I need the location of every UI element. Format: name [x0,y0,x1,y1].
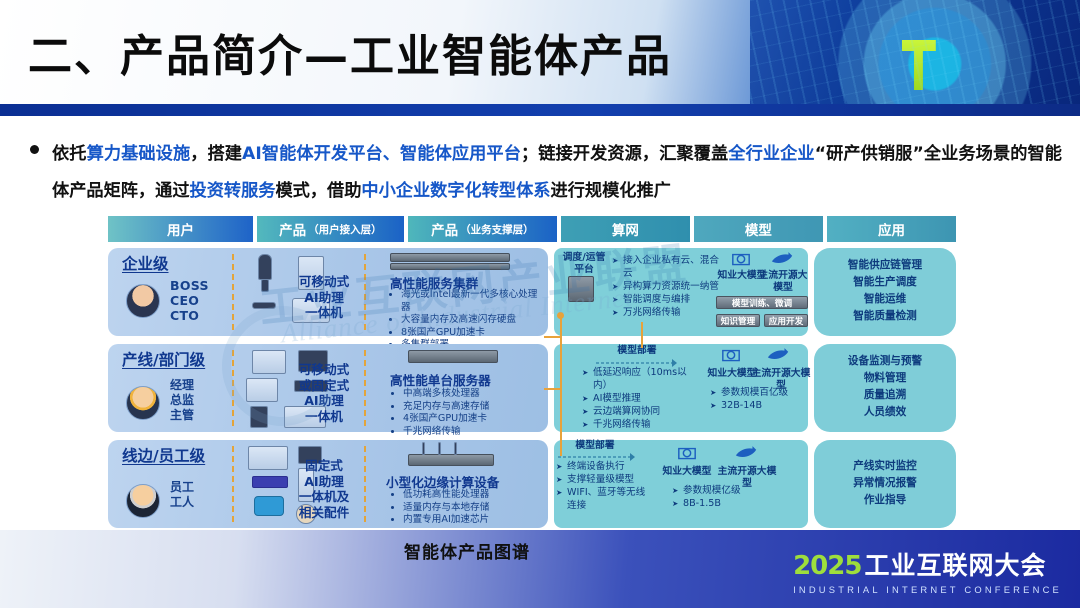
connector-stub-1 [544,336,562,338]
role-list: 员工 工人 [170,480,194,510]
bullet-segment-8: 模式，借助 [275,181,361,201]
divider-dashed-2 [364,350,366,426]
column-header-product-support-label: 产品 [431,219,458,239]
model-item: 参数规模亿级 [672,484,776,497]
product-map-diagram: 工业互联网产业联盟 Alliance of Industrial Interne… [108,216,956,528]
bullet-paragraph: 依托算力基础设施，搭建AI智能体开发平台、智能体应用平台；链接开发资源，汇聚覆盖… [52,136,1062,210]
role-list: BOSS CEO CTO [170,278,209,323]
conference-logo: 2025 工业互联网大会 INDUSTRIAL INTERNET CONFERE… [793,546,1062,595]
app-item-list: 产线实时监控异常情况报警作业指导 [814,458,956,509]
app-item: 人员绩效 [814,404,956,421]
column-header-product-access: 产品 （用户接入层） [257,216,404,242]
knowledge-model-icon [720,346,742,366]
support-item: 千兆网络传输 [403,426,544,439]
bullet-segment-7: 投资转服务 [190,181,276,201]
robot-legs-icon [261,279,269,292]
server-cluster-icon [390,253,510,262]
row-mid-panel: 模型部署 低延迟响应（10ms以内）AI模型推理云边端算网协同千兆网络传输 知业… [554,344,808,432]
support-item: 海光或Intel最新一代多核心处理器 [401,289,540,314]
column-header-product-access-sub: （用户接入层） [308,222,382,237]
antenna-icon-2 [438,442,441,455]
model-chip-appdev: 应用开发 [764,314,808,327]
support-title: 高性能单台服务器 [390,370,491,389]
row-left-panel: 线边/员工级 员工 工人 固定式 AI助理 一体机及 相关配件 小型化边缘计算设… [108,440,548,528]
bullet-segment-2: ，搭建 [190,144,242,164]
row-left-panel: 产线/部门级 经理 总监 主管 可移动式 或固定式 AI助理 一体机 高性能单台… [108,344,548,432]
diagram-row-line-edge: 线边/员工级 员工 工人 固定式 AI助理 一体机及 相关配件 小型化边缘计算设… [108,440,956,528]
support-item-list: 海光或Intel最新一代多核心处理器大容量内存及高速闪存硬盘8张国产GPU加速卡… [390,289,540,352]
net-item: 终端设备执行 [556,460,652,473]
app-item: 物料管理 [814,370,956,387]
bullet-segment-9: 中小企业数字化转型体系 [361,181,550,201]
net-item: 接入企业私有云、混合云 [612,254,724,280]
column-header-product-support: 产品 （业务支撑层） [408,216,557,242]
model-chip-training: 模型训练、微调 [716,296,808,309]
model-name-2: 主流开源大模型 [754,270,812,294]
hmi-screen-icon [248,446,288,470]
app-item-list: 智能供应链管理智能生产调度智能运维智能质量检测 [814,257,956,325]
app-item: 质量追溯 [814,387,956,404]
bullet-segment-1: 算力基础设施 [87,144,191,164]
conference-name-cn: 工业互联网大会 [864,546,1046,582]
net-item: 智能调度与编排 [612,293,724,306]
edge-gateway-icon [408,454,494,466]
net-item: 异构算力资源统一纳管 [612,280,724,293]
app-item: 作业指导 [814,492,956,509]
monitor-icon [252,350,286,374]
level-title: 线边/员工级 [122,448,230,465]
connector-node [557,312,564,319]
bullet-block: 依托算力基础设施，搭建AI智能体开发平台、智能体应用平台；链接开发资源，汇聚覆盖… [22,136,1062,210]
support-item: 大容量内存及高速闪存硬盘 [401,314,540,327]
column-header-product-access-label: 产品 [279,219,306,239]
conference-name-en: INDUSTRIAL INTERNET CONFERENCE [793,584,1062,595]
divider-dashed-1 [232,254,234,330]
support-item-list: 低功耗高性能处理器适量内存与本地存储内置专用AI加速芯片 [392,489,544,527]
model-name-1: 知业大模型 [658,466,716,478]
net-item-list: 终端设备执行支撑轻量级模型WIFI、蓝牙等无线连接 [556,460,652,512]
server-cluster-icon-2 [390,263,510,270]
banner-divider [0,104,1080,116]
row-mid-panel: 调度/运管平台 接入企业私有云、混合云异构算力资源统一纳管智能调度与编排万兆网络… [554,248,808,336]
net-item: 云边端算网协同 [582,405,698,418]
net-item: 支撑轻量级模型 [556,473,652,486]
row-app-panel: 产线实时监控异常情况报警作业指导 [814,440,956,528]
avatar [126,386,160,420]
column-header-application-label: 应用 [878,219,905,239]
single-server-icon [408,350,498,363]
app-item: 设备监测与预警 [814,353,956,370]
row-app-panel: 设备监测与预警物料管理质量追溯人员绩效 [814,344,956,432]
open-source-model-icon [734,444,756,464]
app-item-list: 设备监测与预警物料管理质量追溯人员绩效 [814,353,956,421]
app-item: 智能供应链管理 [814,257,956,274]
support-item: 内置专用AI加速芯片 [403,514,544,527]
bullet-segment-4: ；链接开发资源，汇聚覆盖 [521,144,728,164]
page-title: 二、产品简介—工业智能体产品 [28,20,672,84]
product-access-label: 固定式 AI助理 一体机及 相关配件 [286,458,362,520]
model-item: 32B-14B [710,399,814,412]
app-item: 异常情况报警 [814,475,956,492]
diagram-row-enterprise: 企业级 BOSS CEO CTO 可移动式 AI助理 一体机 高性能服务集群 海… [108,248,956,336]
net-item: 千兆网络传输 [582,418,698,431]
net-caption: 调度/运管平台 [558,252,610,276]
model-item-list: 参数规模百亿级32B-14B [710,386,814,412]
row-left-panel: 企业级 BOSS CEO CTO 可移动式 AI助理 一体机 高性能服务集群 海… [108,248,548,336]
knowledge-model-icon [730,250,752,270]
platform-icon [568,276,594,302]
support-item: 8张国产GPU加速卡 [401,327,540,340]
slide-banner: 二、产品简介—工业智能体产品 [0,0,1080,112]
divider-dashed-2 [364,254,366,330]
net-item-list: 接入企业私有云、混合云异构算力资源统一纳管智能调度与编排万兆网络传输 [612,254,724,319]
column-header-application: 应用 [827,216,956,242]
net-item: 低延迟响应（10ms以内） [582,366,698,392]
column-header-bar: 用户 产品 （用户接入层） 产品 （业务支撑层） 算网 模型 应用 [108,216,956,242]
divider-dashed-1 [232,350,234,426]
knowledge-model-icon [676,444,698,464]
diagram-row-production-line: 产线/部门级 经理 总监 主管 可移动式 或固定式 AI助理 一体机 高性能单台… [108,344,956,432]
connector-vertical-2 [641,322,643,348]
antenna-icon-3 [454,442,457,455]
product-access-label: 可移动式 AI助理 一体机 [286,274,362,321]
diagram-caption: 智能体产品图谱 [404,538,530,563]
panel-icon [246,378,278,402]
app-item: 智能生产调度 [814,274,956,291]
banner-tech-graphic [750,0,1080,112]
support-item: 充足内存与高速存储 [403,401,544,414]
drone-icon [252,302,276,309]
robot-icon [258,254,272,280]
app-item: 产线实时监控 [814,458,956,475]
app-item: 智能质量检测 [814,308,956,325]
level-title: 产线/部门级 [122,352,230,369]
model-item: 8B-1.5B [672,497,776,510]
row-mid-panel: 模型部署 终端设备执行支撑轻量级模型WIFI、蓝牙等无线连接 知业大模型 主流开… [554,440,808,528]
column-header-user-label: 用户 [167,219,194,239]
column-header-model-label: 模型 [745,219,772,239]
support-item: 4张国产GPU加速卡 [403,413,544,426]
net-item-list: 低延迟响应（10ms以内）AI模型推理云边端算网协同千兆网络传输 [582,366,698,431]
scanner-icon [252,476,288,488]
support-item: 适量内存与本地存储 [403,502,544,515]
column-header-model: 模型 [694,216,823,242]
model-chip-knowledge: 知识管理 [716,314,760,327]
column-header-user: 用户 [108,216,253,242]
bullet-segment-5: 全行业企业 [728,144,814,164]
column-header-network: 算网 [561,216,690,242]
open-source-model-icon [766,346,788,366]
bullet-segment-10: 进行规模化推广 [551,181,671,201]
connector-stub-2 [544,388,562,390]
ar-glasses-icon [254,496,284,516]
model-item: 参数规模百亿级 [710,386,814,399]
column-header-product-support-sub: （业务支撑层） [460,222,534,237]
bullet-marker-icon [30,145,39,154]
column-header-network-label: 算网 [612,219,639,239]
antenna-icon [422,442,425,455]
net-item: 万兆网络传输 [612,306,724,319]
app-item: 智能运维 [814,291,956,308]
divider-dashed-1 [232,446,234,522]
support-item: 中高端多核处理器 [403,388,544,401]
product-access-label: 可移动式 或固定式 AI助理 一体机 [286,362,362,424]
level-title: 企业级 [122,256,230,273]
role-list: 经理 总监 主管 [170,378,194,423]
bullet-segment-3: AI智能体开发平台、智能体应用平台 [242,144,521,164]
open-source-model-icon [770,250,792,270]
net-item: AI模型推理 [582,392,698,405]
edge-box-icon [250,406,268,428]
avatar [126,284,160,318]
divider-dashed-2 [364,446,366,522]
model-item-list: 参数规模亿级8B-1.5B [672,484,776,510]
avatar [126,484,160,518]
row-app-panel: 智能供应链管理智能生产调度智能运维智能质量检测 [814,248,956,336]
conference-year: 2025 [793,551,861,581]
support-item-list: 中高端多核处理器充足内存与高速存储4张国产GPU加速卡千兆网络传输 [392,388,544,438]
support-item: 低功耗高性能处理器 [403,489,544,502]
bullet-segment-0: 依托 [52,144,87,164]
net-item: WIFI、蓝牙等无线连接 [556,486,652,512]
